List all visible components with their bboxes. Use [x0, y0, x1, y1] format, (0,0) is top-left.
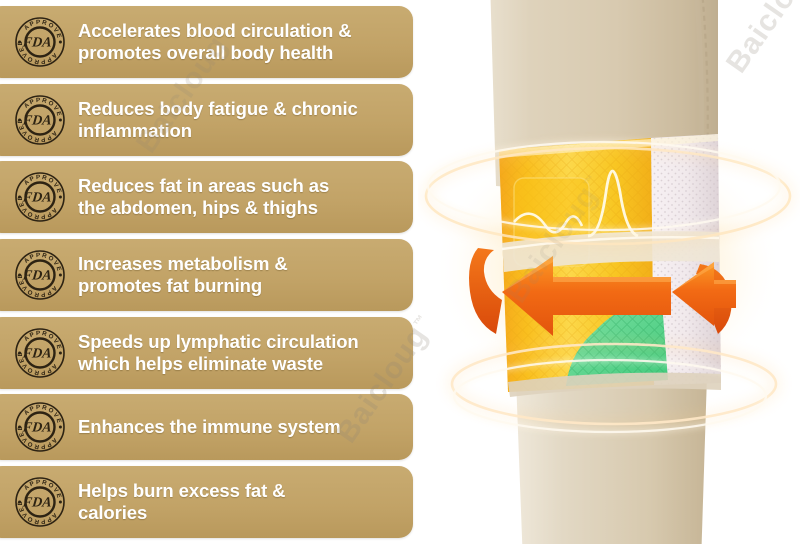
fda-approved-seal-icon: APPROVED APPROVED FDA [14, 171, 66, 223]
svg-text:FDA: FDA [21, 420, 52, 436]
svg-text:FDA: FDA [21, 190, 52, 206]
benefit-card-3[interactable]: APPROVED APPROVED FDA Reduces fat in are… [0, 161, 413, 233]
benefit-card-1[interactable]: APPROVED APPROVED FDA Accelerates blood … [0, 6, 413, 78]
benefit-card-6[interactable]: APPROVED APPROVED FDA Enhances the immun… [0, 394, 413, 460]
benefit-label: Reduces body fatigue & chronic inflammat… [78, 98, 358, 142]
benefit-label: Speeds up lymphatic circulation which he… [78, 331, 359, 375]
svg-text:FDA: FDA [21, 112, 52, 128]
svg-text:FDA: FDA [21, 494, 52, 510]
infographic-canvas: APPROVED APPROVED FDA Accelerates blood … [0, 0, 800, 544]
brace-wrap [499, 134, 721, 397]
benefit-card-7[interactable]: APPROVED APPROVED FDA Helps burn excess … [0, 466, 413, 538]
product-illustration [418, 0, 800, 544]
fda-approved-seal-icon: APPROVED APPROVED FDA [14, 476, 66, 528]
benefit-label: Reduces fat in areas such as the abdomen… [78, 175, 329, 219]
svg-text:FDA: FDA [21, 268, 52, 284]
fda-approved-seal-icon: APPROVED APPROVED FDA [14, 327, 66, 379]
benefit-card-5[interactable]: APPROVED APPROVED FDA Speeds up lymphati… [0, 317, 413, 389]
fda-approved-seal-icon: APPROVED APPROVED FDA [14, 249, 66, 301]
fda-approved-seal-icon: APPROVED APPROVED FDA [14, 94, 66, 146]
benefit-label: Accelerates blood circulation & promotes… [78, 20, 351, 64]
benefit-label: Increases metabolism & promotes fat burn… [78, 253, 288, 297]
benefit-label: Enhances the immune system [78, 416, 341, 438]
benefit-card-4[interactable]: APPROVED APPROVED FDA Increases metaboli… [0, 239, 413, 311]
fda-approved-seal-icon: APPROVED APPROVED FDA [14, 16, 66, 68]
svg-text:FDA: FDA [21, 35, 52, 51]
benefits-list: APPROVED APPROVED FDA Accelerates blood … [0, 0, 418, 544]
benefit-card-2[interactable]: APPROVED APPROVED FDA Reduces body fatig… [0, 84, 413, 156]
svg-text:FDA: FDA [21, 345, 52, 361]
fda-approved-seal-icon: APPROVED APPROVED FDA [14, 401, 66, 453]
benefit-label: Helps burn excess fat & calories [78, 480, 285, 524]
